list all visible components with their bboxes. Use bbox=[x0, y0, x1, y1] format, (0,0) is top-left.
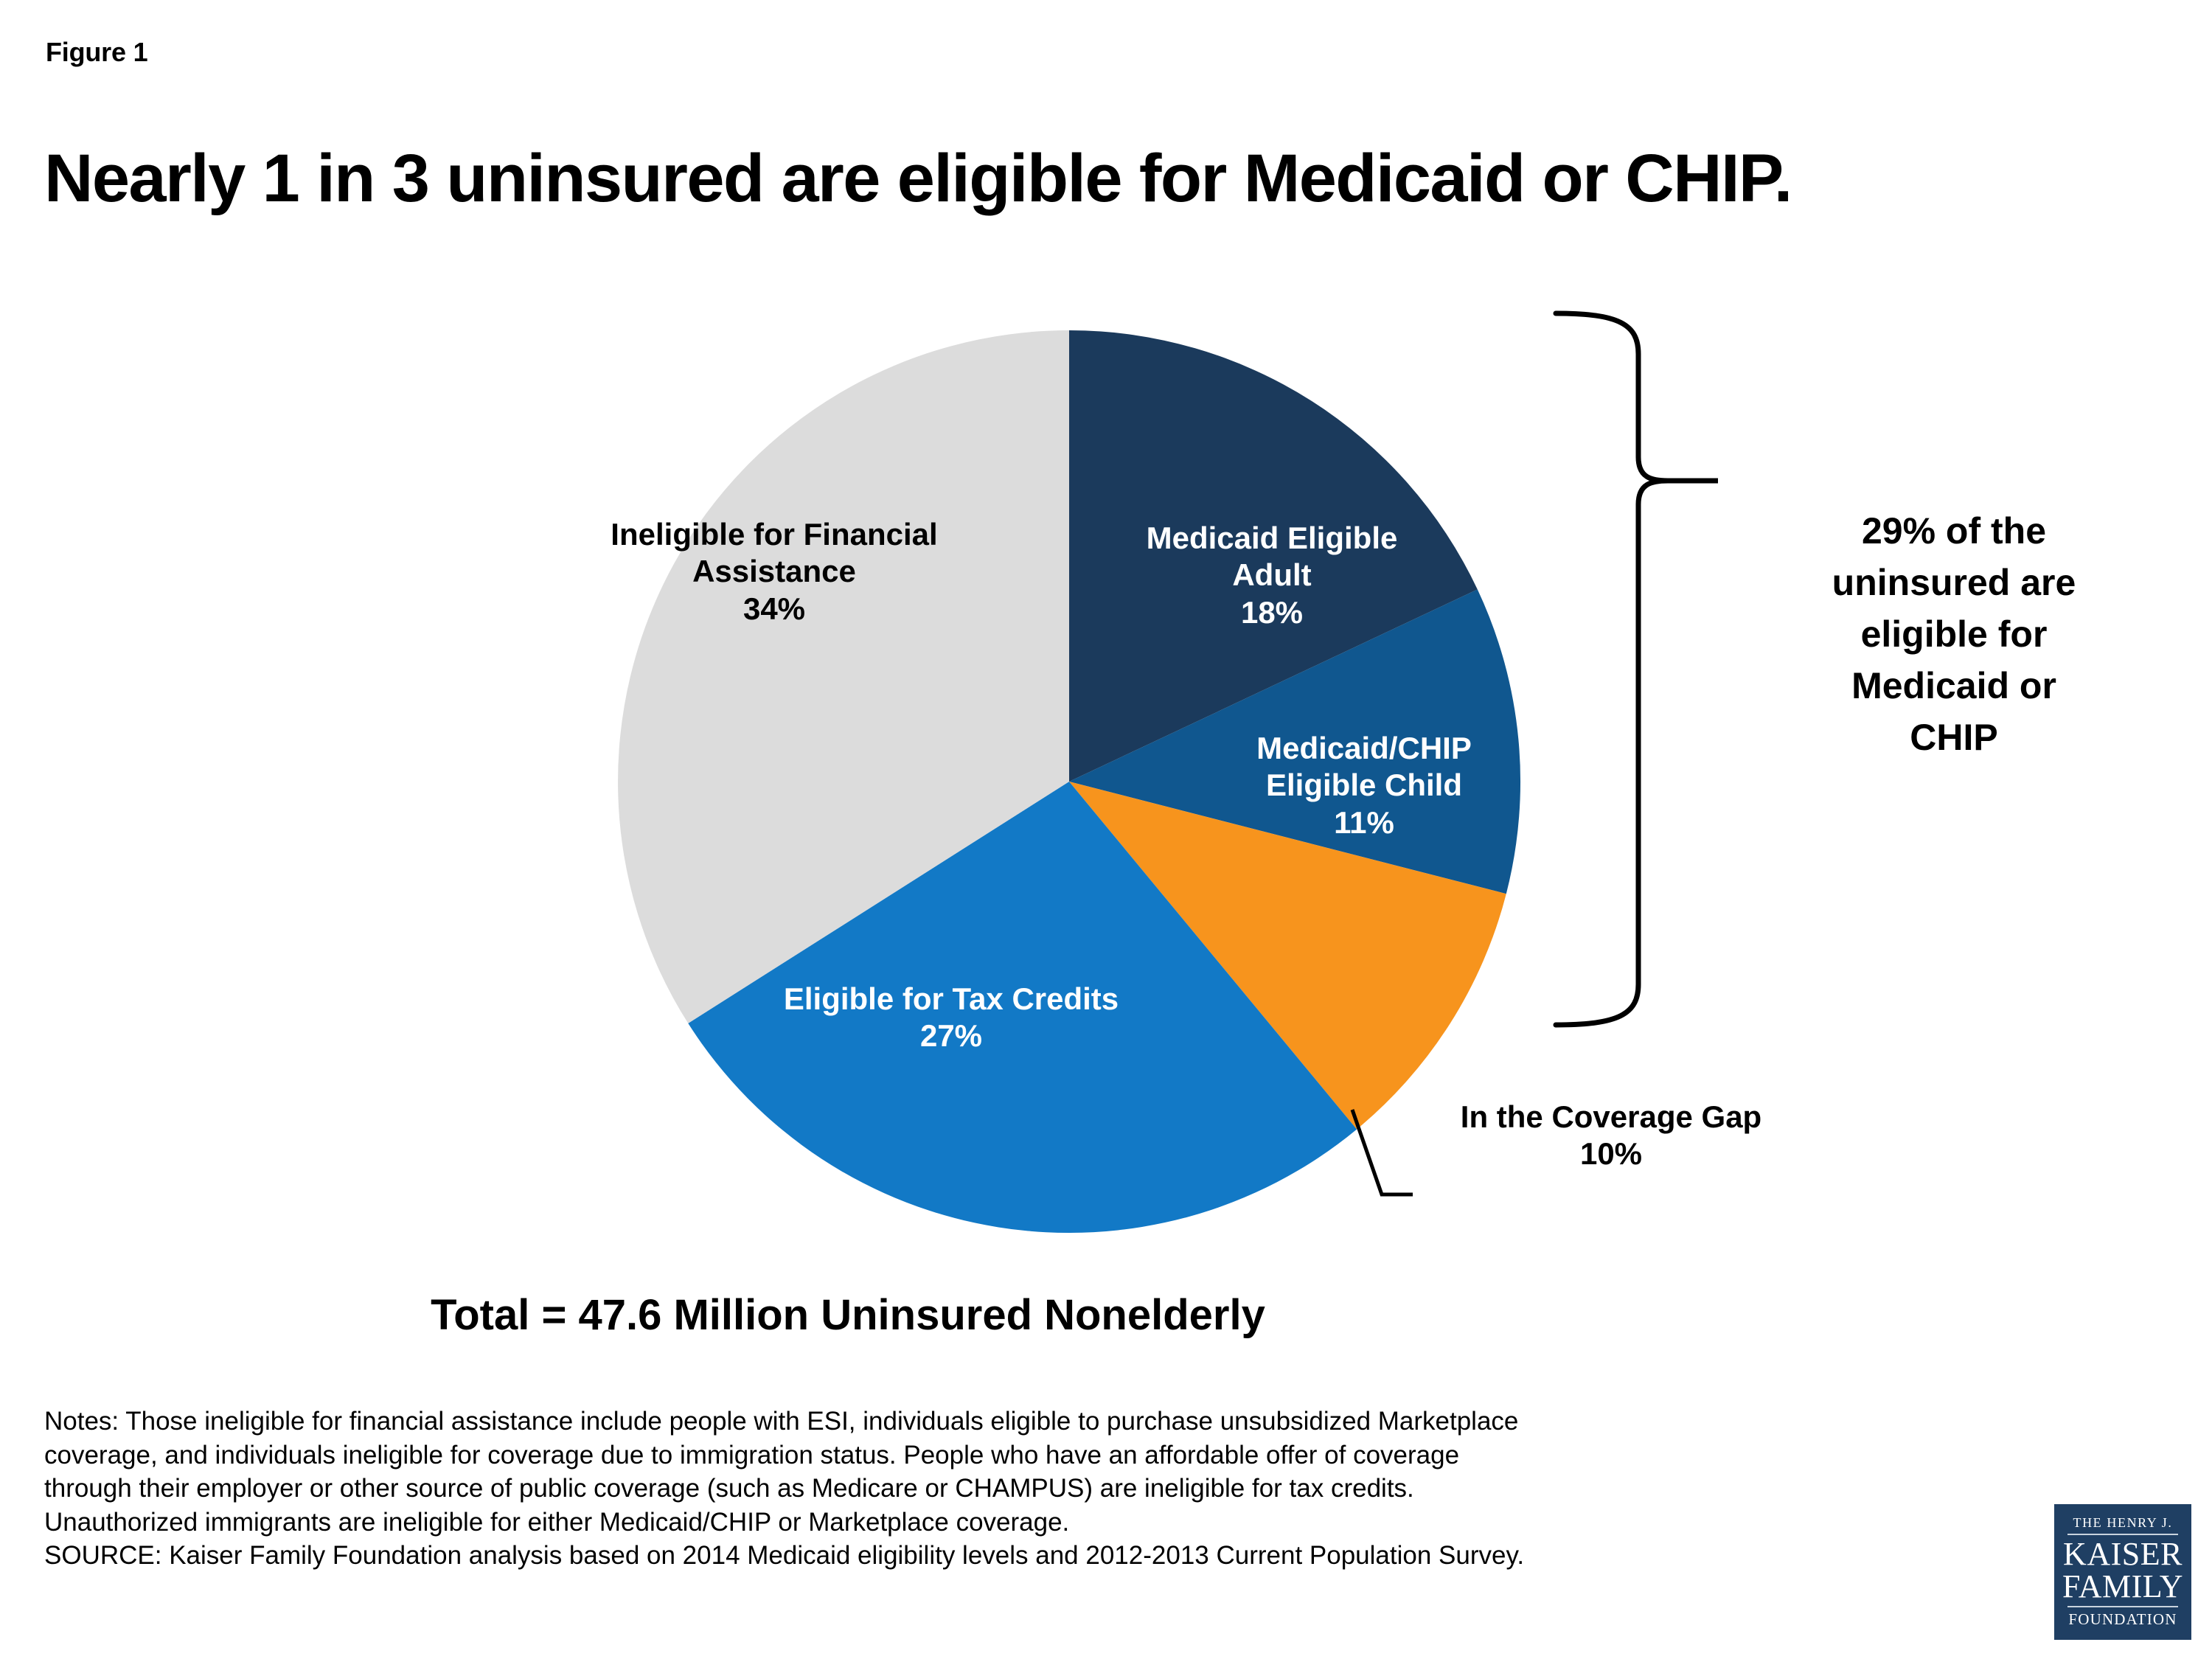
pie-label-in-the-coverage-gap: In the Coverage Gap 10% bbox=[1375, 1099, 1847, 1173]
pie-label-percent: 18% bbox=[1106, 594, 1438, 631]
logo-divider-bottom bbox=[2067, 1606, 2178, 1607]
notes-line-2: coverage, and individuals ineligible for… bbox=[44, 1439, 2050, 1472]
pie-label-percent: 34% bbox=[546, 591, 1003, 627]
pie-label-line1: Medicaid/CHIP bbox=[1198, 730, 1530, 767]
brace-icon bbox=[1556, 313, 1668, 1025]
pie-label-line1: In the Coverage Gap bbox=[1375, 1099, 1847, 1135]
callout-line2: uninsured are bbox=[1747, 557, 2160, 608]
pie-label-line2: Adult bbox=[1106, 557, 1438, 594]
pie-chart-svg bbox=[0, 243, 2212, 1290]
notes-line-3: through their employer or other source o… bbox=[44, 1472, 2050, 1506]
pie-label-eligible-for-tax-credits: Eligible for Tax Credits 27% bbox=[708, 981, 1194, 1055]
pie-label-medicaid-chip-eligible-child: Medicaid/CHIP Eligible Child 11% bbox=[1198, 730, 1530, 841]
logo-line-family: FAMILY bbox=[2062, 1571, 2183, 1603]
kaiser-family-foundation-logo: THE HENRY J. KAISER FAMILY FOUNDATION bbox=[2054, 1504, 2191, 1640]
logo-divider-top bbox=[2067, 1534, 2178, 1535]
notes-line-1: Notes: Those ineligible for financial as… bbox=[44, 1405, 2050, 1439]
callout-line4: Medicaid or bbox=[1747, 660, 2160, 712]
callout-line1: 29% of the bbox=[1747, 505, 2160, 557]
source-line: SOURCE: Kaiser Family Foundation analysi… bbox=[44, 1539, 2050, 1573]
callout-line3: eligible for bbox=[1747, 608, 2160, 660]
pie-label-line1: Medicaid Eligible bbox=[1106, 520, 1438, 557]
pie-label-line1: Eligible for Tax Credits bbox=[708, 981, 1194, 1018]
pie-label-line1: Ineligible for Financial bbox=[546, 516, 1003, 553]
logo-line-kaiser: KAISER bbox=[2063, 1538, 2183, 1571]
pie-label-medicaid-eligible-adult: Medicaid Eligible Adult 18% bbox=[1106, 520, 1438, 631]
notes-block: Notes: Those ineligible for financial as… bbox=[44, 1405, 2050, 1573]
figure-label: Figure 1 bbox=[46, 37, 147, 68]
chart-total-label: Total = 47.6 Million Uninsured Nonelderl… bbox=[0, 1290, 1696, 1340]
brace-callout-text: 29% of the uninsured are eligible for Me… bbox=[1747, 505, 2160, 763]
logo-line-foundation: FOUNDATION bbox=[2068, 1610, 2177, 1629]
pie-chart: Ineligible for Financial Assistance 34% … bbox=[0, 243, 2212, 1290]
pie-label-ineligible-for-financial-assistance: Ineligible for Financial Assistance 34% bbox=[546, 516, 1003, 627]
pie-label-line2: Eligible Child bbox=[1198, 767, 1530, 804]
pie-label-line2: Assistance bbox=[546, 553, 1003, 590]
pie-label-percent: 10% bbox=[1375, 1135, 1847, 1172]
notes-line-4: Unauthorized immigrants are ineligible f… bbox=[44, 1506, 2050, 1540]
logo-line-the-henry-j: THE HENRY J. bbox=[2073, 1515, 2172, 1531]
callout-line5: CHIP bbox=[1747, 712, 2160, 763]
pie-label-percent: 27% bbox=[708, 1018, 1194, 1054]
page-title: Nearly 1 in 3 uninsured are eligible for… bbox=[44, 140, 1792, 218]
pie-label-percent: 11% bbox=[1198, 804, 1530, 841]
